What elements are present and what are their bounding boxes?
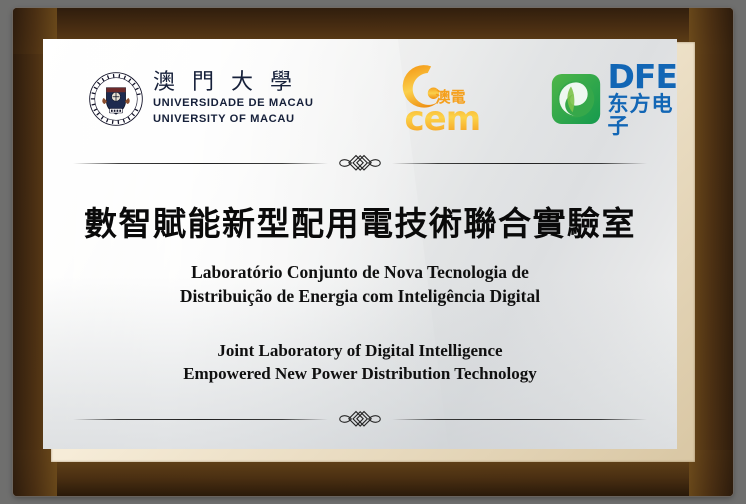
title-english-line1: Joint Laboratory of Digital Intelligence [43, 339, 677, 362]
cem-wordmark: cem [405, 102, 481, 136]
title-english-line2: Empowered New Power Distribution Technol… [43, 362, 677, 385]
frame-bevel-right [689, 8, 733, 496]
cem-name-chinese: 澳電 [436, 90, 466, 105]
divider-line-right [392, 163, 647, 164]
logo-university-of-macau: 澳 門 大 學 UNIVERSIDADE DE MACAU UNIVERSITY… [88, 71, 329, 127]
dfe-wordmark: DFE 东方电子 [608, 61, 677, 136]
plaque-face: 澳 門 大 學 UNIVERSIDADE DE MACAU UNIVERSITY… [43, 39, 677, 449]
divider-line-left [73, 163, 328, 164]
dfe-leaf-icon [551, 73, 601, 125]
um-name-chinese: 澳 門 大 學 [153, 70, 297, 95]
divider-line-right [392, 419, 647, 420]
divider-bottom [73, 407, 647, 431]
title-english: Joint Laboratory of Digital Intelligence… [43, 339, 677, 386]
um-name-portuguese: UNIVERSIDADE DE MACAU [153, 97, 314, 109]
diamond-knot-ornament [328, 407, 392, 431]
plaque-photo: 澳 門 大 學 UNIVERSIDADE DE MACAU UNIVERSITY… [0, 0, 746, 504]
title-chinese: 數智賦能新型配用電技術聯合實驗室 [43, 197, 677, 245]
dfe-name-chinese: 东方电子 [608, 93, 677, 137]
divider-top [73, 151, 647, 175]
um-wordmark: 澳 門 大 學 UNIVERSIDADE DE MACAU UNIVERSITY… [153, 72, 329, 126]
um-name-english: UNIVERSITY OF MACAU [153, 113, 295, 125]
title-portuguese-line2: Distribuição de Energia com Inteligência… [43, 285, 677, 309]
title-portuguese-line1: Laboratório Conjunto de Nova Tecnologia … [43, 261, 677, 285]
logo-row: 澳 門 大 學 UNIVERSIDADE DE MACAU UNIVERSITY… [43, 53, 677, 145]
university-seal-icon [88, 71, 144, 127]
dfe-name-english: DFE [608, 61, 677, 92]
logo-cem: cem 澳電 [391, 60, 491, 138]
title-portuguese: Laboratório Conjunto de Nova Tecnologia … [43, 261, 677, 308]
divider-line-left [73, 419, 328, 420]
diamond-knot-ornament [328, 151, 392, 175]
logo-dfe: DFE 东方电子 [551, 61, 677, 136]
